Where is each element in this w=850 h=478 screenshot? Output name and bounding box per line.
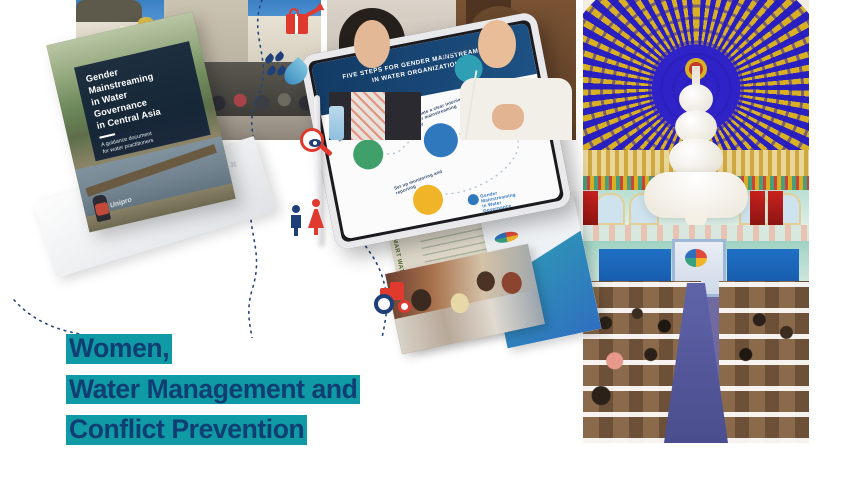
headline-row-2: Water Management and [66, 375, 430, 410]
collage-poster: ⌘ Gender Mainstreaming in Water Governan… [0, 0, 850, 478]
headline-row-1: Women, [66, 334, 430, 369]
conference-hall-photo [583, 225, 809, 443]
watering-can-stripe [295, 14, 298, 34]
woman-figure-head [312, 199, 320, 207]
dome-arch [595, 193, 625, 225]
man-woman-figures-icon [289, 196, 331, 236]
panel-person1-face [354, 20, 390, 68]
tractor-icon [374, 282, 414, 314]
watering-can-spout [306, 7, 320, 17]
panel-water-bottle [329, 106, 344, 140]
panel-person2-face [478, 20, 516, 68]
headline-row-3: Conflict Prevention [66, 415, 430, 450]
water-drop-small [263, 53, 275, 65]
headline-block: Women, Water Management and Conflict Pre… [0, 334, 430, 456]
water-drops-icon [266, 52, 308, 88]
water-drop-small [265, 65, 277, 77]
panel-person1-scarf [351, 92, 385, 140]
workshop-person [475, 270, 497, 293]
watering-can-handle [289, 8, 299, 16]
man-figure-legs [294, 227, 298, 236]
dome-curtain [583, 191, 598, 225]
dome-curtain [768, 191, 783, 225]
watering-can-icon [286, 8, 320, 36]
headline-line-2: Water Management and [66, 375, 360, 405]
woman-figure-body [308, 209, 324, 228]
publication-title-rule [99, 133, 115, 139]
water-drop-large [280, 57, 313, 90]
headline-line-3: Conflict Prevention [66, 415, 307, 445]
ornate-dome-chandelier-photo [583, 0, 809, 225]
water-drop-small [273, 51, 285, 63]
tractor-cab [390, 282, 404, 291]
eye-glyph [309, 139, 321, 147]
hall-event-logo [685, 249, 707, 267]
headline-line-1: Women, [66, 334, 172, 364]
panel-person2-hand [492, 104, 524, 130]
chandelier-tip [685, 212, 707, 225]
dome-curtain [750, 191, 765, 225]
woman-figure-legs [314, 227, 318, 235]
sheet-watermark: ⌘ [230, 161, 238, 170]
magnifier-handle [320, 144, 333, 156]
hall-delegates [583, 285, 809, 443]
tractor-small-wheel [398, 300, 411, 313]
tractor-large-wheel [374, 294, 394, 314]
man-figure-head [292, 205, 300, 213]
infographic-logo-mark [467, 193, 480, 206]
brochure-logo [494, 230, 520, 245]
